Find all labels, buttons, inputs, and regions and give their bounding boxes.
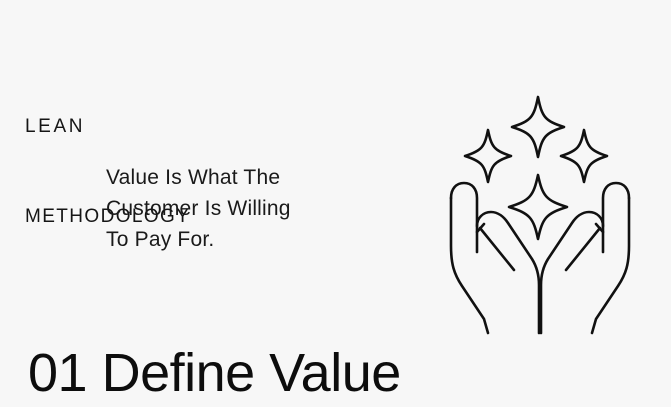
left-hand-thumb-knuckle — [477, 212, 539, 333]
right-hand-thumb-knuckle — [541, 212, 603, 333]
sparkle-star-top — [512, 97, 564, 157]
body-paragraph: Value Is What The Customer Is Willing To… — [106, 162, 376, 255]
body-line-1: Value Is What The — [106, 162, 376, 193]
right-hand-crease — [566, 228, 600, 270]
hands-holding-sparkles-illustration — [418, 84, 662, 346]
sparkle-star-center — [509, 175, 567, 239]
sparkle-star-left — [465, 130, 511, 182]
left-hand-crease — [480, 228, 514, 270]
right-hand-outer-edge — [592, 198, 629, 333]
slide-canvas: LEAN METHODOLOGY Value Is What The Custo… — [0, 0, 671, 407]
body-line-3: To Pay For. — [106, 224, 376, 255]
left-hand-outer-edge — [451, 198, 488, 333]
sparkle-star-right — [561, 130, 607, 182]
left-hand-index-finger — [451, 183, 477, 252]
page-title: 01 Define Value — [28, 342, 401, 404]
eyebrow-line-1: LEAN — [25, 112, 190, 142]
body-line-2: Customer Is Willing — [106, 193, 376, 224]
right-hand-index-finger — [603, 183, 629, 252]
